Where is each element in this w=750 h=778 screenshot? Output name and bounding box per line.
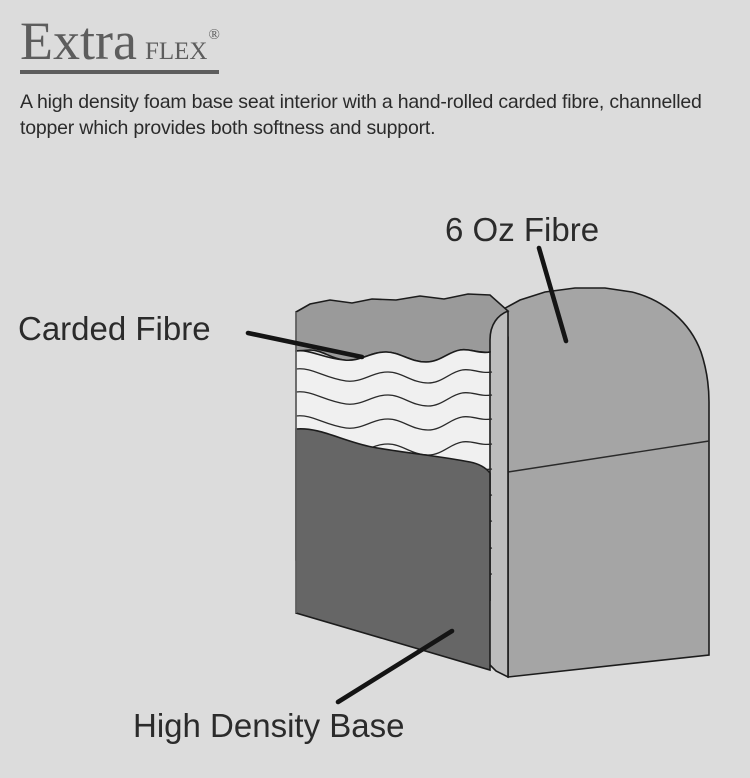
cushion-side-face xyxy=(498,288,709,677)
product-info-page: ExtraFlex® A high density foam base seat… xyxy=(0,0,750,778)
cushion-side-face-group xyxy=(498,288,709,677)
high-density-base-front-face xyxy=(296,429,490,670)
label-high-density-base: High Density Base xyxy=(133,707,404,744)
cushion-diagram: 6 Oz Fibre Carded Fibre High Density Bas… xyxy=(0,0,750,778)
label-top-fibre: 6 Oz Fibre xyxy=(445,211,599,248)
cushion-cut-edge-strip xyxy=(489,310,508,677)
label-carded-fibre: Carded Fibre xyxy=(18,310,211,347)
